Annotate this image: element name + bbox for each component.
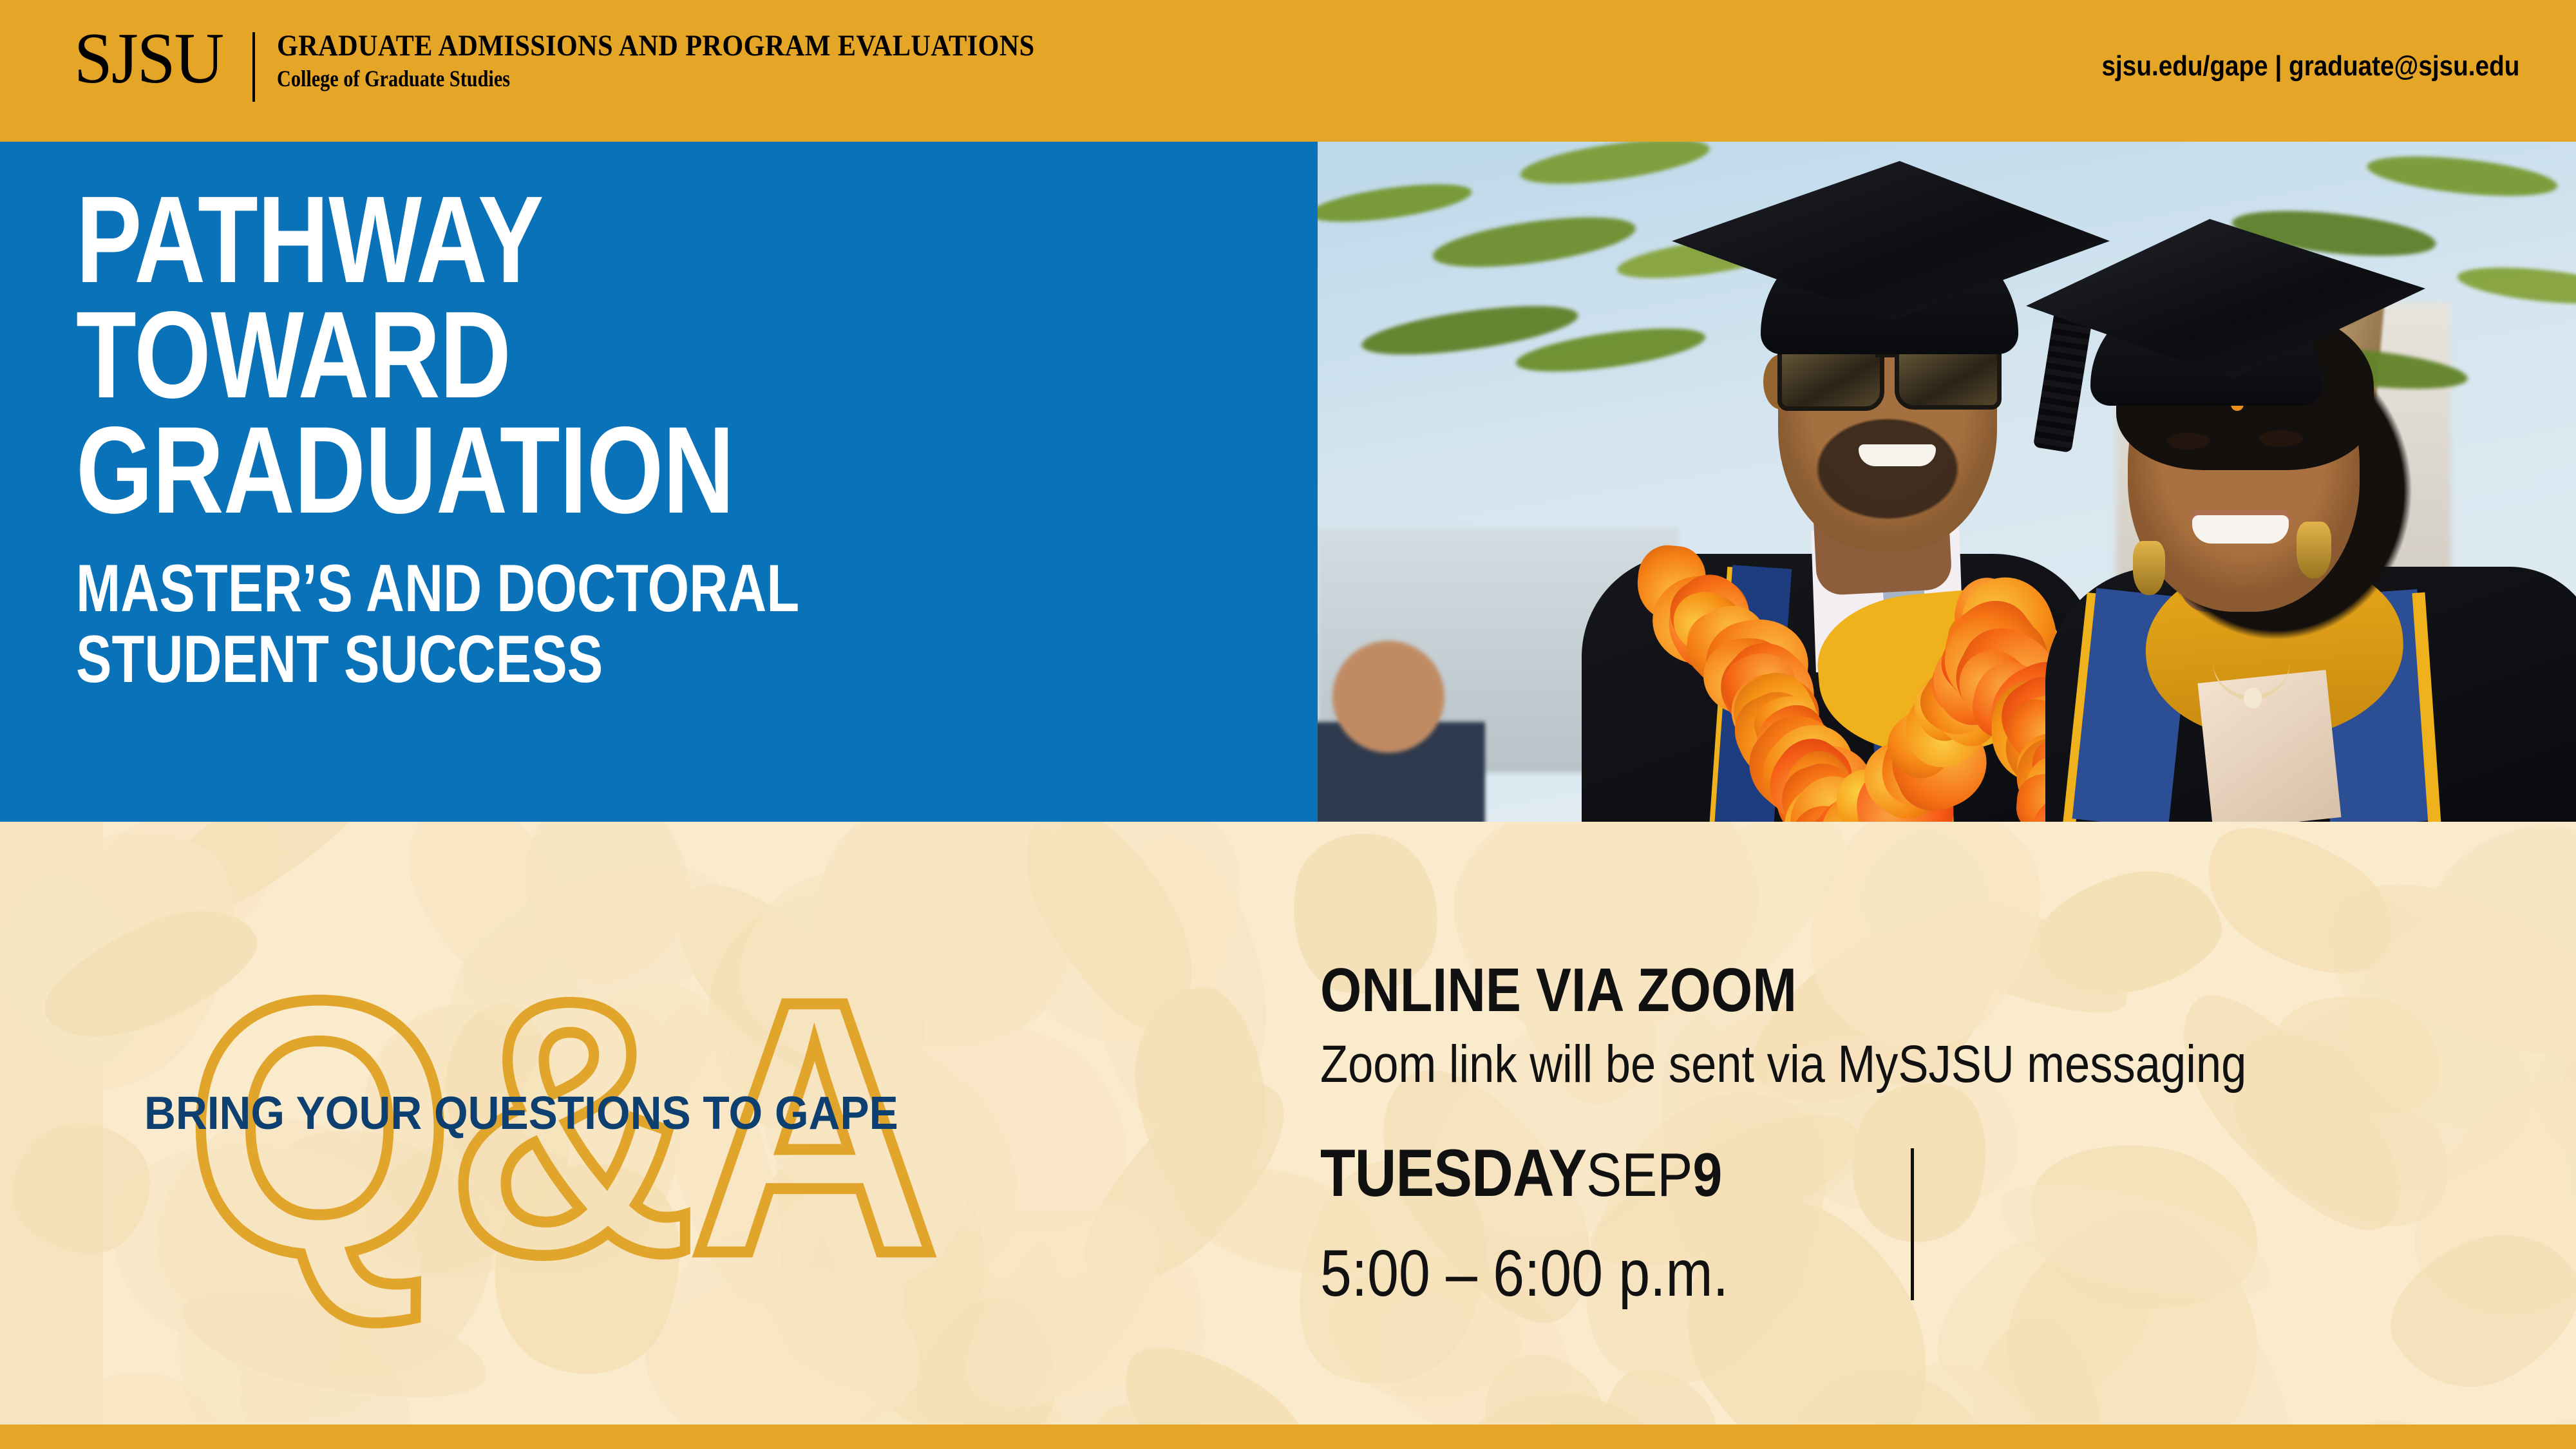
session-1-month: SEP <box>1586 1141 1692 1209</box>
graduate-right-eye-left <box>2166 433 2210 450</box>
event-info-block: ONLINE VIA ZOOM Zoom link will be sent v… <box>1320 960 2531 1092</box>
logo-text-group: GRADUATE ADMISSIONS AND PROGRAM EVALUATI… <box>277 26 1119 91</box>
poster-canvas: SJSU GRADUATE ADMISSIONS AND PROGRAM EVA… <box>0 0 2576 1449</box>
college-name: College of Graduate Studies <box>277 67 984 91</box>
session-1-day: TUESDAY <box>1320 1136 1586 1211</box>
session-item-1: TUESDAYSEP9 5:00 – 6:00 p.m. <box>1320 1140 1887 1306</box>
department-name: GRADUATE ADMISSIONS AND PROGRAM EVALUATI… <box>277 31 1035 62</box>
footer-gold-bar <box>0 1425 2576 1449</box>
event-format-note: Zoom link will be sent via MySJSU messag… <box>1320 1037 2362 1092</box>
photo-graduate-right <box>2020 180 2576 822</box>
graduates-photo <box>1318 142 2576 822</box>
leaf-shape <box>2470 1392 2576 1425</box>
session-1-date-line: TUESDAYSEP9 <box>1320 1140 1808 1207</box>
session-1-time: 5:00 – 6:00 p.m. <box>1320 1240 1808 1306</box>
session-1-date: 9 <box>1692 1141 1722 1209</box>
photo-crowd-left <box>1318 631 1485 822</box>
logo-divider-rule <box>252 32 255 102</box>
subhead-line-1: MASTER’S AND DOCTORAL <box>76 553 1029 624</box>
sjsu-wordmark: SJSU <box>74 26 223 92</box>
headline-line-3: GRADUATION <box>76 416 1029 525</box>
qa-tagline: BRING YOUR QUESTIONS TO GAPE <box>144 1087 898 1140</box>
graduate-right-pendant <box>2244 688 2262 708</box>
sjsu-logo-block: SJSU GRADUATE ADMISSIONS AND PROGRAM EVA… <box>74 26 1119 102</box>
hero-blue-panel: PATHWAY TOWARD GRADUATION MASTER’S AND D… <box>0 142 1318 822</box>
graduate-right-smile <box>2192 515 2289 544</box>
event-format-title: ONLINE VIA ZOOM <box>1320 960 2362 1021</box>
header-contact-info[interactable]: sjsu.edu/gape | graduate@sjsu.edu <box>2101 50 2519 82</box>
graduate-right-earring-1 <box>2297 522 2331 578</box>
graduate-left-lei <box>1607 528 2058 822</box>
hero-subhead-group: MASTER’S AND DOCTORAL STUDENT SUCCESS <box>76 553 1267 695</box>
graduate-left-smile <box>1859 444 1936 466</box>
hero-headline-group: PATHWAY TOWARD GRADUATION MASTER’S AND D… <box>76 185 1267 695</box>
session-list: TUESDAYSEP9 5:00 – 6:00 p.m. FRIDAYSEP12… <box>1320 1140 2544 1320</box>
qa-watermark-wrap: Q&A <box>187 947 1230 1346</box>
headline-line-1: PATHWAY <box>76 185 1029 294</box>
header-bar: SJSU GRADUATE ADMISSIONS AND PROGRAM EVA… <box>0 0 2576 142</box>
leaf-shape <box>2279 1387 2506 1425</box>
graduate-right-earring-2 <box>2133 541 2165 595</box>
graduate-right-eye-right <box>2259 430 2303 447</box>
headline-line-2: TOWARD <box>76 301 1029 410</box>
session-divider-rule <box>1911 1148 1914 1300</box>
subhead-line-2: STUDENT SUCCESS <box>76 624 1029 695</box>
